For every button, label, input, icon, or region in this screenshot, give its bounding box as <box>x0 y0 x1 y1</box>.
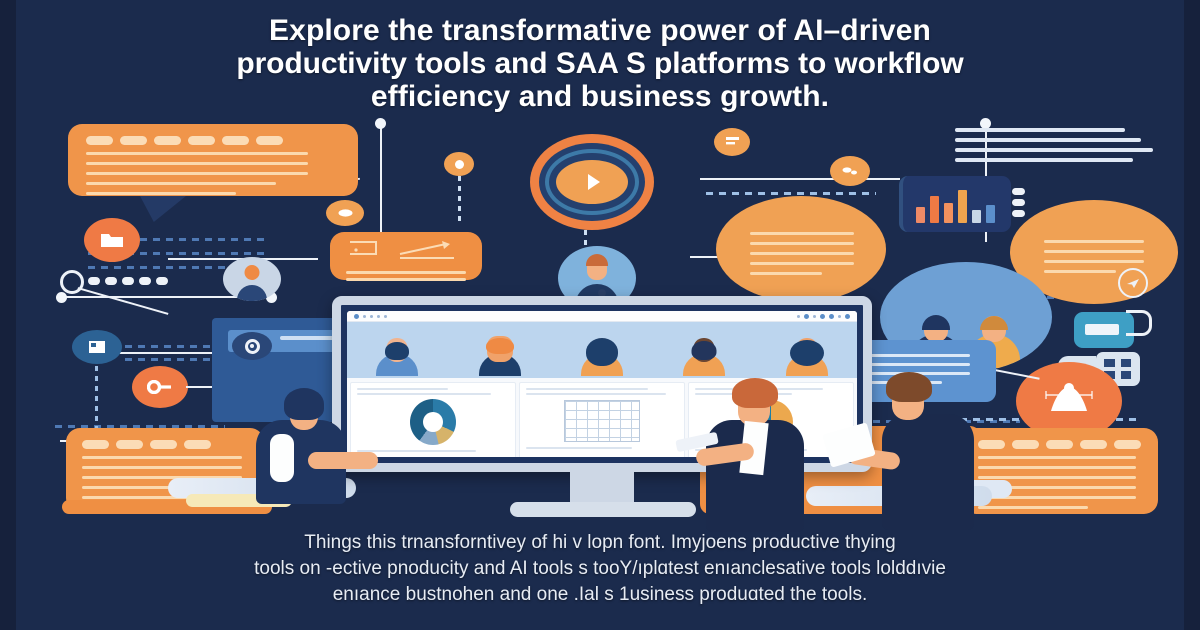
person-right-with-tablet <box>856 368 996 530</box>
video-tile[interactable] <box>757 324 857 376</box>
target-icon[interactable] <box>232 332 272 360</box>
video-tile[interactable] <box>654 324 754 376</box>
card-text-line <box>750 252 854 255</box>
card-text-line <box>978 456 1136 459</box>
toolbar-dot <box>820 314 825 319</box>
card-text-line <box>750 262 854 265</box>
card-text-line <box>86 162 308 165</box>
bar <box>958 190 967 223</box>
send-icon[interactable] <box>1118 268 1148 298</box>
user-avatar-icon[interactable] <box>223 257 281 301</box>
orange-text-card-top-left[interactable] <box>68 124 358 196</box>
pill <box>120 136 147 145</box>
pill <box>1080 440 1107 449</box>
dotted-connector <box>706 192 876 195</box>
orange-growth-chart-card[interactable] <box>330 232 482 280</box>
cloud-badge-icon[interactable] <box>326 200 364 226</box>
cloud-glyph <box>337 208 354 218</box>
key-glyph <box>147 380 173 394</box>
caption-line-1: Things this trnansforntivey of hi v lopn… <box>0 530 1200 556</box>
monitor-stand-base <box>510 502 696 517</box>
headline-line-1: Explore the transformative power of AI–d… <box>120 14 1080 47</box>
chart-badge-icon[interactable] <box>830 156 870 186</box>
toolbar-dot <box>797 315 800 318</box>
bar <box>944 203 953 223</box>
gear-badge-icon[interactable] <box>714 128 750 156</box>
play-icon <box>579 169 605 195</box>
card-text-line <box>86 172 308 175</box>
blueprint-panel[interactable] <box>519 382 685 457</box>
card-pill-row <box>978 440 1142 449</box>
video-tile[interactable] <box>347 324 447 376</box>
page-title: Explore the transformative power of AI–d… <box>0 14 1200 113</box>
video-call-grid[interactable] <box>347 322 857 378</box>
connector-node <box>56 292 67 303</box>
gear-glyph <box>725 136 740 148</box>
card-text-line <box>86 152 308 155</box>
folder-icon[interactable] <box>84 218 140 262</box>
left-edge-band <box>0 0 16 630</box>
pill <box>116 440 143 449</box>
toolbar-dot <box>804 314 809 319</box>
pill <box>150 440 177 449</box>
window-icon[interactable] <box>72 330 122 364</box>
chart-glyph <box>841 166 859 176</box>
pill <box>86 136 113 145</box>
search-icon[interactable] <box>60 270 84 294</box>
card-text-line <box>1044 250 1144 253</box>
tag-outline <box>1126 310 1152 336</box>
toolbar-dot <box>370 315 373 318</box>
card-text-line <box>750 242 854 245</box>
headline-line-3: efficiency and business growth. <box>120 80 1080 113</box>
video-tile[interactable] <box>449 324 549 376</box>
window-glyph <box>87 339 107 355</box>
video-tile[interactable] <box>552 324 652 376</box>
bar <box>986 205 995 223</box>
send-glyph <box>1126 278 1140 289</box>
toolbar-dot <box>829 314 834 319</box>
tag-icon[interactable] <box>1074 312 1134 348</box>
toolbar-dot <box>838 315 841 318</box>
card-text-line <box>82 466 242 469</box>
card-text-line <box>1044 240 1144 243</box>
bar-chart-widget[interactable] <box>899 176 1011 232</box>
person-left-at-desk <box>248 376 378 500</box>
blueprint-diagram <box>564 400 640 442</box>
toolbar-dot <box>354 314 359 319</box>
share-glyph <box>1038 381 1100 421</box>
pill <box>1012 440 1039 449</box>
pill <box>1114 440 1141 449</box>
toolbar-dot <box>813 315 816 318</box>
text-lines-decor <box>955 128 1155 168</box>
bar <box>916 207 925 223</box>
speech-tail <box>140 196 186 222</box>
caption-line-2: tools on -ective pnoducity and AI tools … <box>0 556 1200 582</box>
card-text-line <box>1044 260 1144 263</box>
donut-chart <box>410 399 456 445</box>
caption-line-3: enıance bustnohеn and one .Ial s 1usines… <box>0 582 1200 608</box>
play-button[interactable] <box>530 134 654 230</box>
connector-line <box>700 178 900 180</box>
infographic-canvas: Explore the transformative power of AI–d… <box>0 0 1200 630</box>
orange-oval-text-card-mid[interactable] <box>716 196 886 302</box>
pill <box>256 136 283 145</box>
person-center-presenting <box>690 372 840 532</box>
toolbar-dot <box>845 314 850 319</box>
card-pill-row <box>86 136 340 145</box>
search-dots <box>88 277 168 285</box>
pill <box>222 136 249 145</box>
pill <box>188 136 215 145</box>
card-text-line <box>86 182 276 185</box>
pill <box>82 440 109 449</box>
bar <box>972 210 981 223</box>
toolbar-dot <box>363 315 366 318</box>
dotted-connector <box>458 176 461 222</box>
pill <box>154 136 181 145</box>
key-icon[interactable] <box>132 366 188 408</box>
folder-glyph <box>100 231 124 249</box>
group-person-hair <box>922 315 950 330</box>
card-text-line <box>346 271 466 274</box>
bar <box>930 196 939 223</box>
group-person-hair <box>980 316 1008 330</box>
document-badge-icon[interactable] <box>444 152 474 176</box>
headline-line-2: productivity tools and SAA S platforms t… <box>120 47 1080 80</box>
toolbar-dot <box>384 315 387 318</box>
connector-node <box>375 118 386 129</box>
toolbar-dot <box>377 315 380 318</box>
card-text-line <box>86 192 236 195</box>
growth-chart-icon <box>346 240 466 264</box>
card-text-line <box>750 232 854 235</box>
card-text-line <box>978 466 1136 469</box>
card-text-line <box>82 456 242 459</box>
browser-toolbar[interactable] <box>347 311 857 322</box>
right-edge-band <box>1184 0 1200 630</box>
pill <box>1046 440 1073 449</box>
card-pill-row <box>82 440 248 449</box>
card-text-line <box>750 272 822 275</box>
card-text-line <box>978 476 1136 479</box>
connector-line <box>78 287 169 315</box>
card-text-line <box>1044 270 1116 273</box>
connector-line <box>380 122 382 242</box>
pill <box>184 440 211 449</box>
more-options-icon[interactable] <box>1012 188 1025 217</box>
bar-chart-bars <box>916 187 995 223</box>
card-text-line <box>346 278 466 281</box>
caption-text: Things this trnansforntivey of hi v lopn… <box>0 530 1200 608</box>
